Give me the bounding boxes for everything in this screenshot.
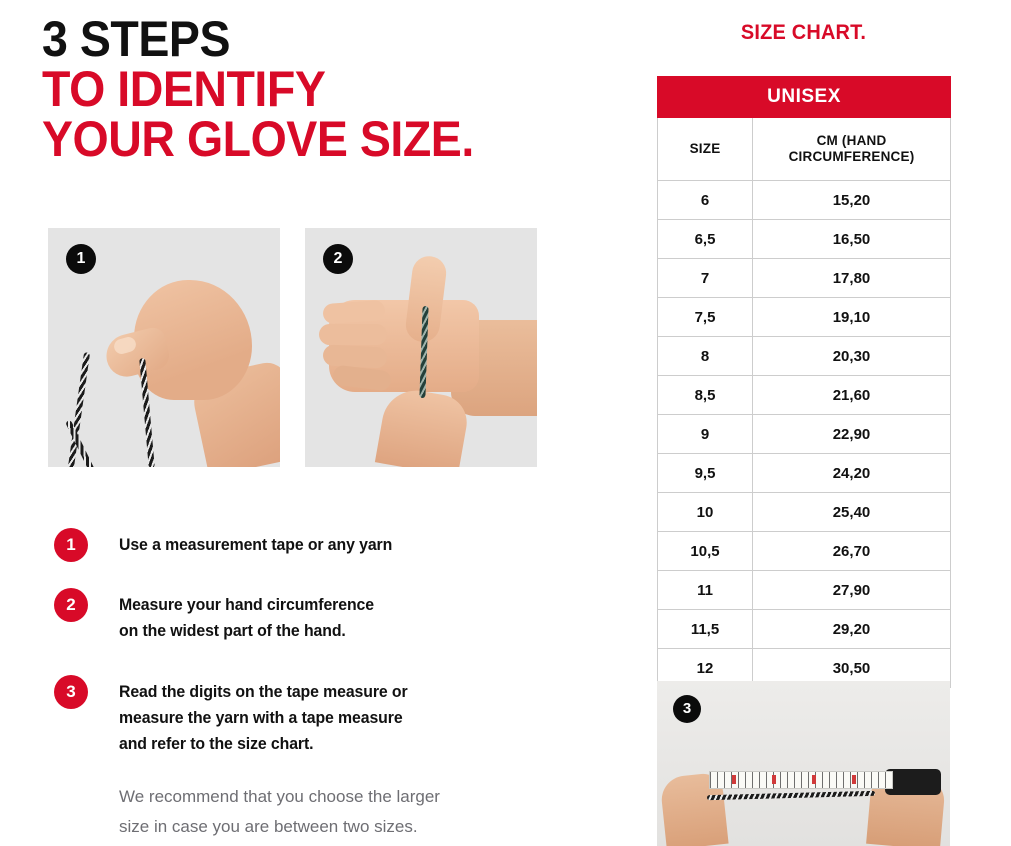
photo-badge-3: 3 xyxy=(673,695,701,723)
table-column-header-row: SIZE CM (HAND CIRCUMFERENCE) xyxy=(658,118,951,181)
cell-circumference-cm: 16,50 xyxy=(753,220,951,259)
cell-size: 8 xyxy=(658,337,753,376)
finger-ring xyxy=(322,344,387,368)
cell-circumference-cm: 26,70 xyxy=(753,532,951,571)
step-2-line-2: on the widest part of the hand. xyxy=(119,618,374,644)
cell-size: 6,5 xyxy=(658,220,753,259)
size-guide-page: 3 STEPS TO IDENTIFY YOUR GLOVE SIZE. 1 2… xyxy=(0,0,1011,846)
cell-circumference-cm: 22,90 xyxy=(753,415,951,454)
step-3-line-1: Read the digits on the tape measure or xyxy=(119,679,408,705)
recommendation-note: We recommend that you choose the larger … xyxy=(119,782,559,842)
photo-badge-2: 2 xyxy=(323,244,353,274)
steps-list: 1 Use a measurement tape or any yarn 2 M… xyxy=(54,528,574,771)
table-row: 1127,90 xyxy=(658,571,951,610)
headline-line-2: TO IDENTIFY xyxy=(42,64,572,114)
step-3-line-3: and refer to the size chart. xyxy=(119,731,408,757)
step-photo-3: 3 xyxy=(657,681,950,846)
size-chart-table: UNISEX SIZE CM (HAND CIRCUMFERENCE) 615,… xyxy=(657,76,951,688)
table-group-header-row: UNISEX xyxy=(658,77,951,118)
cell-size: 9,5 xyxy=(658,454,753,493)
table-row: 7,519,10 xyxy=(658,298,951,337)
tape-measure-ticks xyxy=(710,772,892,788)
cell-circumference-cm: 19,10 xyxy=(753,298,951,337)
step-2-line-1: Measure your hand circumference xyxy=(119,592,374,618)
table-row: 10,526,70 xyxy=(658,532,951,571)
tape-measure-case xyxy=(885,769,941,795)
step-photo-1: 1 xyxy=(48,228,280,467)
cell-size: 10 xyxy=(658,493,753,532)
cell-circumference-cm: 20,30 xyxy=(753,337,951,376)
table-row: 8,521,60 xyxy=(658,376,951,415)
table-row: 1025,40 xyxy=(658,493,951,532)
photo-badge-1: 1 xyxy=(66,244,96,274)
note-line-1: We recommend that you choose the larger xyxy=(119,782,559,812)
step-photo-2: 2 xyxy=(305,228,537,467)
tape-red-mark xyxy=(852,775,856,784)
cell-circumference-cm: 15,20 xyxy=(753,181,951,220)
cell-circumference-cm: 25,40 xyxy=(753,493,951,532)
step-text-3: Read the digits on the tape measure or m… xyxy=(119,675,408,757)
cell-size: 8,5 xyxy=(658,376,753,415)
table-column-header-cm-line-1: CM (HAND xyxy=(817,133,887,148)
cell-size: 11,5 xyxy=(658,610,753,649)
cell-size: 11 xyxy=(658,571,753,610)
step-badge-2: 2 xyxy=(54,588,88,622)
finger-middle xyxy=(319,324,387,345)
cell-size: 6 xyxy=(658,181,753,220)
tape-red-mark xyxy=(812,775,816,784)
step-text-1: Use a measurement tape or any yarn xyxy=(119,528,392,558)
table-row: 615,20 xyxy=(658,181,951,220)
table-row: 11,529,20 xyxy=(658,610,951,649)
cell-circumference-cm: 17,80 xyxy=(753,259,951,298)
step-1-line-1: Use a measurement tape or any yarn xyxy=(119,532,392,558)
table-row: 922,90 xyxy=(658,415,951,454)
note-line-2: size in case you are between two sizes. xyxy=(119,812,559,842)
step-item-2: 2 Measure your hand circumference on the… xyxy=(54,588,574,644)
cell-size: 9 xyxy=(658,415,753,454)
step-item-1: 1 Use a measurement tape or any yarn xyxy=(54,528,574,562)
table-column-header-cm-line-2: CIRCUMFERENCE) xyxy=(789,149,915,164)
step-badge-3: 3 xyxy=(54,675,88,709)
step-badge-1: 1 xyxy=(54,528,88,562)
table-column-header-size: SIZE xyxy=(658,118,753,181)
table-group-header-unisex: UNISEX xyxy=(658,77,951,118)
cell-size: 7 xyxy=(658,259,753,298)
size-chart-title: SIZE CHART. xyxy=(664,21,942,45)
headline-line-1: 3 STEPS xyxy=(42,14,572,64)
tape-red-mark xyxy=(732,775,736,784)
step-3-line-2: measure the yarn with a tape measure xyxy=(119,705,408,731)
cell-circumference-cm: 29,20 xyxy=(753,610,951,649)
cell-size: 10,5 xyxy=(658,532,753,571)
table-row: 820,30 xyxy=(658,337,951,376)
cell-size: 7,5 xyxy=(658,298,753,337)
cell-circumference-cm: 21,60 xyxy=(753,376,951,415)
headline-line-3: YOUR GLOVE SIZE. xyxy=(42,114,572,164)
table-column-header-cm: CM (HAND CIRCUMFERENCE) xyxy=(753,118,951,181)
table-row: 9,524,20 xyxy=(658,454,951,493)
table-row: 6,516,50 xyxy=(658,220,951,259)
size-chart-body: 615,206,516,50717,807,519,10820,308,521,… xyxy=(658,181,951,688)
tape-red-mark xyxy=(772,775,776,784)
step-text-2: Measure your hand circumference on the w… xyxy=(119,588,374,644)
tape-measure-blade xyxy=(709,771,893,789)
step-item-3: 3 Read the digits on the tape measure or… xyxy=(54,675,574,757)
cell-circumference-cm: 24,20 xyxy=(753,454,951,493)
cell-circumference-cm: 27,90 xyxy=(753,571,951,610)
page-title: 3 STEPS TO IDENTIFY YOUR GLOVE SIZE. xyxy=(42,14,612,164)
table-row: 717,80 xyxy=(658,259,951,298)
